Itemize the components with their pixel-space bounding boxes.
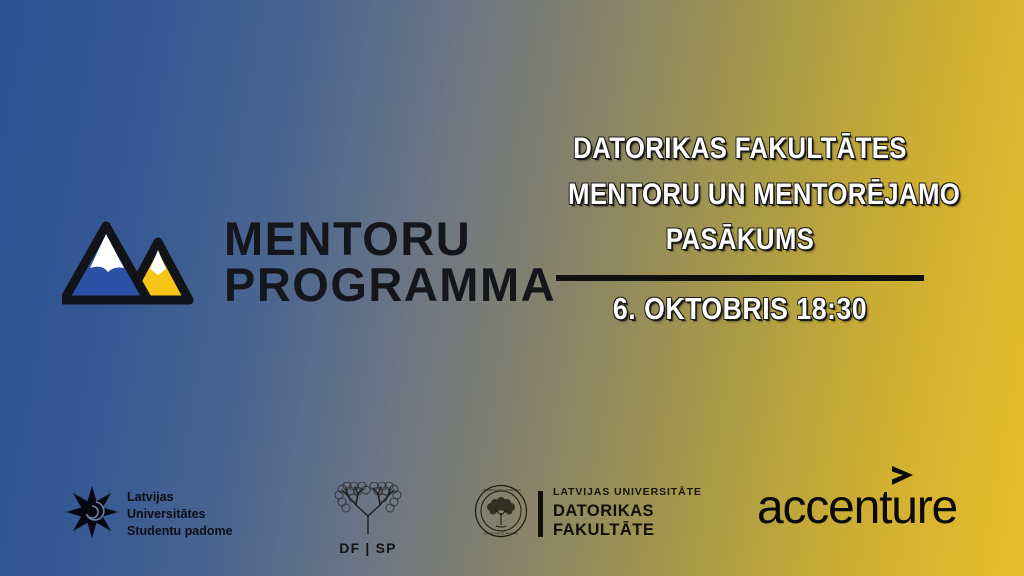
- lusp-line-3: Studentu padome: [127, 523, 233, 540]
- sponsor-df-sp: DF | SP: [331, 482, 405, 556]
- accenture-logo: accenture: [757, 484, 957, 532]
- event-poster: MENTORU PROGRAMMA DATORIKAS FAKULTĀTES M…: [0, 0, 1024, 576]
- dfsp-caption: DF | SP: [339, 540, 396, 556]
- greater-than-arrow-icon: [889, 464, 919, 493]
- lusp-line-2: Universitātes: [127, 506, 233, 523]
- fractal-tree-icon: [331, 482, 405, 539]
- headline-divider: [556, 275, 924, 281]
- wordmark-line-1: MENTORU: [224, 216, 556, 262]
- university-tree-seal-icon: UNIVERSITAS LATVIENSIS SCIENTIAE ET PATR…: [474, 484, 528, 543]
- ludf-text-block: LATVIJAS UNIVERSITĀTE DATORIKAS FAKULTĀT…: [553, 486, 702, 540]
- spiral-sun-star-icon: [66, 486, 118, 543]
- brand-logo-lockup: MENTORU PROGRAMMA: [62, 212, 556, 312]
- ludf-divider-bar: [538, 491, 543, 537]
- event-date: 6. OKTOBRIS 18:30: [568, 291, 912, 327]
- ludf-university-label: LATVIJAS UNIVERSITĀTE: [553, 486, 702, 498]
- svg-text:UNIVERSITAS LATVIENSIS: UNIVERSITAS LATVIENSIS: [482, 488, 521, 492]
- svg-text:SCIENTIAE ET PATRIAE: SCIENTIAE ET PATRIAE: [484, 532, 519, 536]
- headline-line-3: PASĀKUMS: [568, 217, 912, 263]
- ludf-faculty-line-2: FAKULTĀTE: [553, 521, 702, 540]
- sponsor-lu-studentu-padome: Latvijas Universitātes Studentu padome: [66, 486, 233, 543]
- sponsor-lu-datorikas-fakultate: UNIVERSITAS LATVIENSIS SCIENTIAE ET PATR…: [474, 484, 702, 543]
- sponsor-accenture: accenture: [757, 484, 957, 532]
- accenture-wordmark: accenture: [757, 484, 957, 532]
- lusp-text-block: Latvijas Universitātes Studentu padome: [127, 489, 233, 539]
- headline-line-2: MENTORU UN MENTORĒJAMO: [568, 172, 912, 218]
- mountain-peaks-icon: [62, 212, 202, 312]
- sponsor-logo-row: Latvijas Universitātes Studentu padome: [0, 478, 1024, 556]
- wordmark-line-2: PROGRAMMA: [224, 262, 556, 308]
- brand-wordmark: MENTORU PROGRAMMA: [224, 216, 556, 308]
- headline-block: DATORIKAS FAKULTĀTES MENTORU UN MENTORĒJ…: [540, 126, 940, 327]
- ludf-faculty-line-1: DATORIKAS: [553, 502, 702, 521]
- headline-line-1: DATORIKAS FAKULTĀTES: [568, 126, 912, 172]
- lusp-line-1: Latvijas: [127, 489, 233, 506]
